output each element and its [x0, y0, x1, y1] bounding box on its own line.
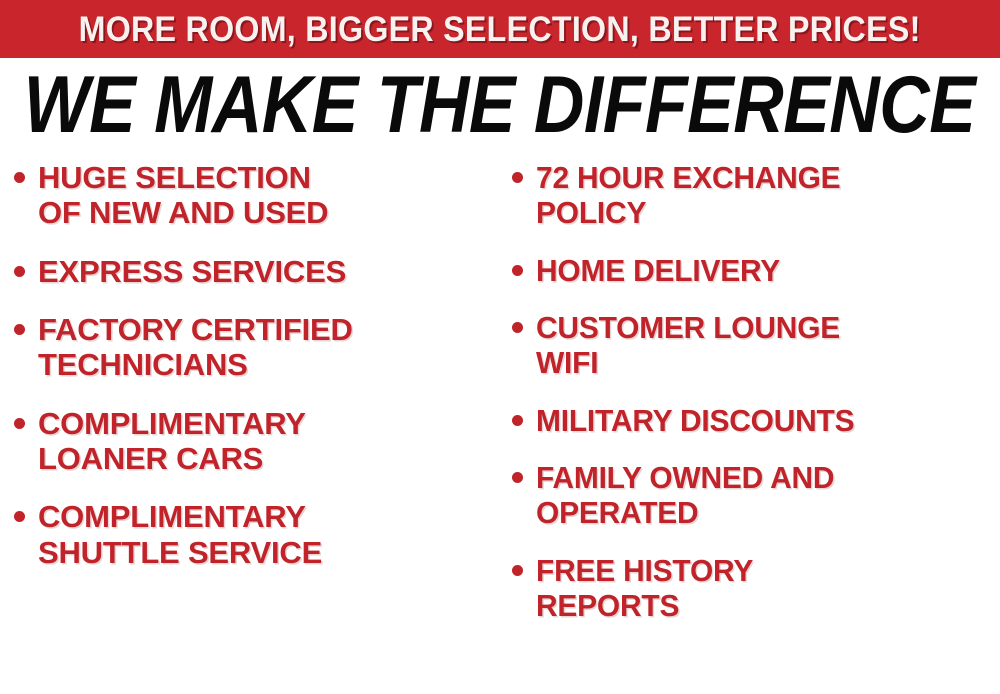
list-item: COMPLIMENTARY SHUTTLE SERVICE	[14, 499, 506, 570]
list-item-label: COMPLIMENTARY SHUTTLE SERVICE	[38, 499, 506, 570]
list-item-label: MILITARY DISCOUNTS	[536, 403, 984, 438]
list-item: CUSTOMER LOUNGE WIFI	[512, 310, 1000, 381]
list-item: HOME DELIVERY	[512, 253, 1000, 288]
list-item: FACTORY CERTIFIED TECHNICIANS	[14, 312, 506, 383]
main-headline-text: WE MAKE THE DIFFERENCE	[24, 65, 976, 146]
bullet-dot-icon	[14, 266, 25, 277]
list-item: 72 HOUR EXCHANGE POLICY	[512, 160, 1000, 231]
bullet-dot-icon	[14, 511, 25, 522]
list-item: EXPRESS SERVICES	[14, 254, 506, 289]
top-banner: MORE ROOM, BIGGER SELECTION, BETTER PRIC…	[0, 0, 1000, 58]
bullet-dot-icon	[512, 265, 523, 276]
list-item-label: HOME DELIVERY	[536, 253, 984, 288]
bullet-dot-icon	[512, 172, 523, 183]
list-item-label: FAMILY OWNED AND OPERATED	[536, 460, 984, 531]
list-item-label: EXPRESS SERVICES	[38, 254, 506, 289]
main-headline-container: WE MAKE THE DIFFERENCE	[0, 66, 1000, 144]
list-item: FAMILY OWNED AND OPERATED	[512, 460, 1000, 531]
benefits-column-left: HUGE SELECTION OF NEW AND USED EXPRESS S…	[14, 160, 506, 593]
bullet-dot-icon	[512, 415, 523, 426]
promo-poster: MORE ROOM, BIGGER SELECTION, BETTER PRIC…	[0, 0, 1000, 694]
bullet-dot-icon	[512, 565, 523, 576]
bullet-dot-icon	[14, 172, 25, 183]
bullet-dot-icon	[14, 418, 25, 429]
list-item-label: HUGE SELECTION OF NEW AND USED	[38, 160, 506, 231]
list-item-label: CUSTOMER LOUNGE WIFI	[536, 310, 984, 381]
list-item-label: 72 HOUR EXCHANGE POLICY	[536, 160, 984, 231]
bullet-dot-icon	[14, 324, 25, 335]
list-item: HUGE SELECTION OF NEW AND USED	[14, 160, 506, 231]
bullet-dot-icon	[512, 322, 523, 333]
list-item-label: FACTORY CERTIFIED TECHNICIANS	[38, 312, 506, 383]
benefits-column-right: 72 HOUR EXCHANGE POLICY HOME DELIVERY CU…	[512, 160, 1000, 645]
list-item-label: FREE HISTORY REPORTS	[536, 553, 984, 624]
list-item: MILITARY DISCOUNTS	[512, 403, 1000, 438]
list-item: COMPLIMENTARY LOANER CARS	[14, 406, 506, 477]
banner-headline-text: MORE ROOM, BIGGER SELECTION, BETTER PRIC…	[79, 12, 921, 47]
bullet-dot-icon	[512, 472, 523, 483]
list-item-label: COMPLIMENTARY LOANER CARS	[38, 406, 506, 477]
benefits-columns: HUGE SELECTION OF NEW AND USED EXPRESS S…	[0, 160, 1000, 694]
list-item: FREE HISTORY REPORTS	[512, 553, 1000, 624]
